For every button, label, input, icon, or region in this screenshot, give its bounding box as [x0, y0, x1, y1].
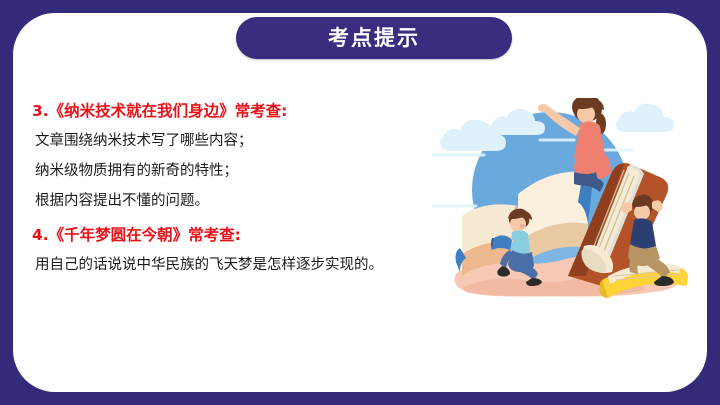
section-4-line-1: 用自己的话说说中华民族的飞天梦是怎样逐步实现的。 — [32, 250, 432, 280]
section-3-line-2: 纳米级物质拥有的新奇的特性； — [32, 156, 432, 186]
page-title: 考点提示 — [328, 28, 420, 49]
section-3-line-1: 文章围绕纳米技术写了哪些内容； — [32, 126, 432, 156]
section-heading-4: 4.《千年梦圆在今朝》常考查: — [32, 220, 432, 250]
children-reading-illustration — [432, 98, 704, 310]
section-3-line-3: 根据内容提出不懂的问题。 — [32, 186, 432, 216]
content-body: 3.《纳米技术就在我们身边》常考查: 文章围绕纳米技术写了哪些内容； 纳米级物质… — [32, 96, 432, 280]
slide-title-pill: 考点提示 — [236, 17, 512, 59]
slide-root: 考点提示 3.《纳米技术就在我们身边》常考查: 文章围绕纳米技术写了哪些内容； … — [0, 0, 720, 405]
section-heading-3: 3.《纳米技术就在我们身边》常考查: — [32, 96, 432, 126]
